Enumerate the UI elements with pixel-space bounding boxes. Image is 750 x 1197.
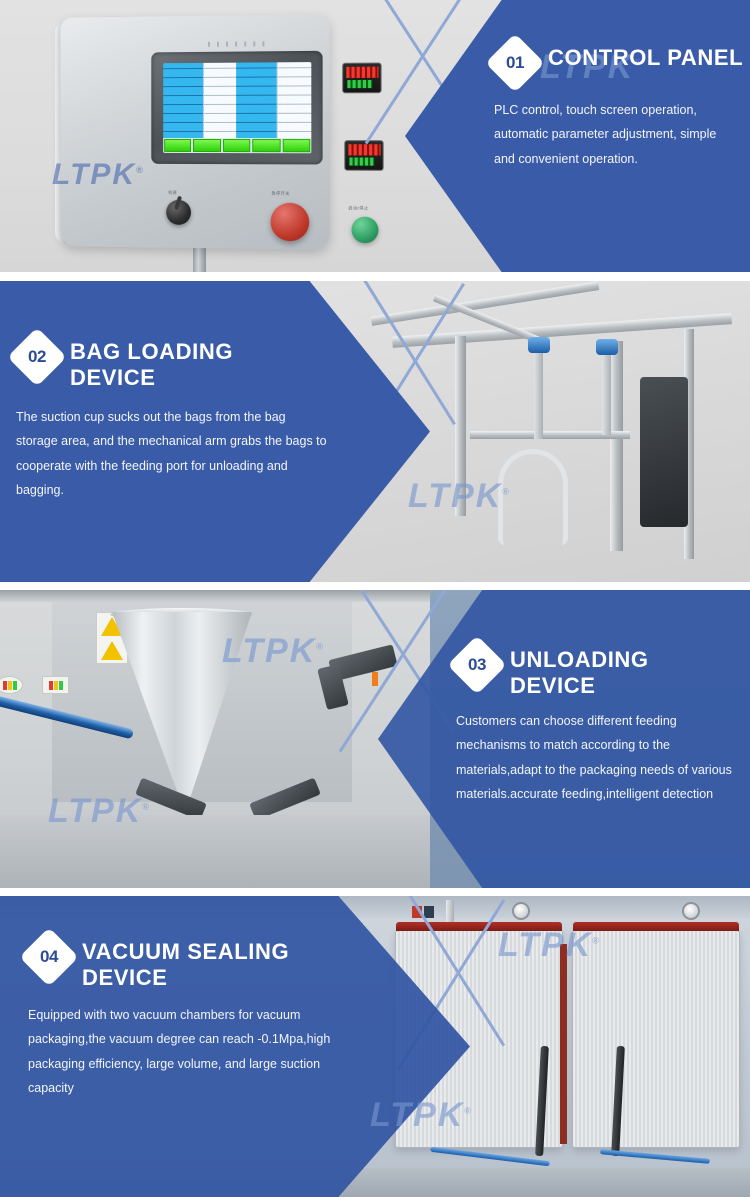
controller-display-red — [348, 144, 380, 155]
hmi-button-row — [163, 138, 311, 153]
pneumatic-fitting — [596, 339, 618, 355]
hmi-touch-screen — [163, 62, 311, 153]
frame-column — [610, 341, 623, 551]
control-panel-enclosure: 电源 急停开关 启动/停止 — [60, 14, 329, 250]
ltpk-watermark: LTPK® — [48, 792, 151, 831]
hmi-soft-button — [193, 139, 220, 152]
knob-label: 电源 — [168, 190, 177, 196]
section-title-03: UNLOADING DEVICE — [510, 642, 700, 699]
section-description-01: PLC control, touch screen operation, aut… — [494, 98, 732, 171]
step-number: 03 — [468, 655, 486, 675]
start-button — [351, 217, 378, 244]
infographic-page: 电源 急停开关 启动/停止 LTPK® LTPK® 01 — [0, 0, 750, 1197]
hmi-soft-button — [282, 139, 310, 152]
green-button-label: 启动/停止 — [348, 205, 368, 211]
step-badge-01: 01 — [485, 33, 544, 92]
ltpk-watermark: LTPK® — [408, 477, 511, 516]
cylinder-rod — [602, 355, 611, 435]
pressure-gauge — [512, 902, 530, 920]
section-header-02: 02 BAG LOADING DEVICE — [16, 334, 346, 391]
hmi-value-column — [203, 63, 237, 138]
section-content-02: 02 BAG LOADING DEVICE The suction cup su… — [16, 334, 346, 502]
pressure-gauge — [682, 902, 700, 920]
ltpk-watermark: LTPK® — [370, 1096, 473, 1135]
indicator-leds — [3, 681, 17, 690]
hmi-label-column — [237, 62, 277, 138]
vent-slots — [208, 41, 268, 47]
ltpk-watermark: LTPK® — [498, 926, 601, 965]
section-content-01: 01 CONTROL PANEL PLC control, touch scre… — [494, 40, 744, 171]
led-red — [49, 681, 53, 690]
section-content-03: 03 UNLOADING DEVICE Customers can choose… — [456, 642, 746, 806]
pneumatic-tube — [600, 1149, 710, 1164]
step-badge-02: 02 — [7, 327, 66, 386]
section-unloading-device: LTPK® LTPK® 03 UNLOADING DEVICE Customer… — [0, 590, 750, 888]
ltpk-watermark: LTPK® — [52, 158, 145, 192]
led-green — [59, 681, 63, 690]
led-green — [13, 681, 17, 690]
controller-display-green — [349, 157, 374, 165]
emergency-stop-button — [271, 203, 310, 242]
section-header-01: 01 CONTROL PANEL — [494, 40, 744, 84]
step-badge-03: 03 — [447, 635, 506, 694]
section-description-03: Customers can choose different feeding m… — [456, 709, 738, 807]
indicator-box — [0, 676, 23, 694]
section-bag-loading-device: LTPK® LTPK® 02 BAG LOADING DEVICE The su… — [0, 281, 750, 582]
section-title-04: VACUUM SEALING DEVICE — [82, 934, 332, 991]
step-number: 04 — [40, 947, 58, 967]
section-title-02: BAG LOADING DEVICE — [70, 334, 285, 391]
hmi-parameter-grid — [163, 62, 311, 138]
section-description-04: Equipped with two vacuum chambers for va… — [28, 1003, 358, 1101]
chamber-divider-seal — [560, 944, 567, 1144]
controller-display-green — [347, 80, 372, 88]
section-vacuum-sealing-device: LTPK® LTPK® LTPK® 04 VACUUM SEALING DEVI… — [0, 896, 750, 1197]
temperature-controller-lower — [344, 140, 383, 171]
step-number: 01 — [506, 53, 524, 73]
section-title-01: CONTROL PANEL — [548, 40, 743, 71]
led-yellow — [8, 681, 12, 690]
temperature-controller-upper — [342, 63, 381, 94]
estop-label: 急停开关 — [272, 191, 290, 197]
indicator-leds — [49, 681, 63, 690]
hmi-label-column — [163, 63, 202, 138]
section-header-03: 03 UNLOADING DEVICE — [456, 642, 746, 699]
led-red — [3, 681, 7, 690]
controller-display-red — [346, 67, 378, 78]
ltpk-watermark: LTPK® — [222, 632, 325, 671]
section-description-02: The suction cup sucks out the bags from … — [16, 405, 328, 503]
hmi-soft-button — [252, 139, 280, 152]
hmi-bezel — [151, 51, 322, 165]
hmi-soft-button — [223, 139, 251, 152]
vertical-actuator — [640, 377, 688, 527]
selector-knob — [166, 200, 191, 225]
indicator-box — [42, 676, 69, 694]
led-yellow — [54, 681, 58, 690]
warning-triangle-icon — [101, 641, 123, 660]
hmi-value-column — [277, 62, 312, 138]
section-header-04: 04 VACUUM SEALING DEVICE — [28, 934, 378, 991]
step-badge-04: 04 — [19, 927, 78, 986]
hmi-soft-button — [164, 139, 191, 152]
pneumatic-fitting — [528, 337, 550, 353]
section-control-panel: 电源 急停开关 启动/停止 LTPK® LTPK® 01 — [0, 0, 750, 272]
section-content-04: 04 VACUUM SEALING DEVICE Equipped with t… — [28, 934, 378, 1100]
cylinder-rod — [534, 353, 543, 439]
step-number: 02 — [28, 347, 46, 367]
